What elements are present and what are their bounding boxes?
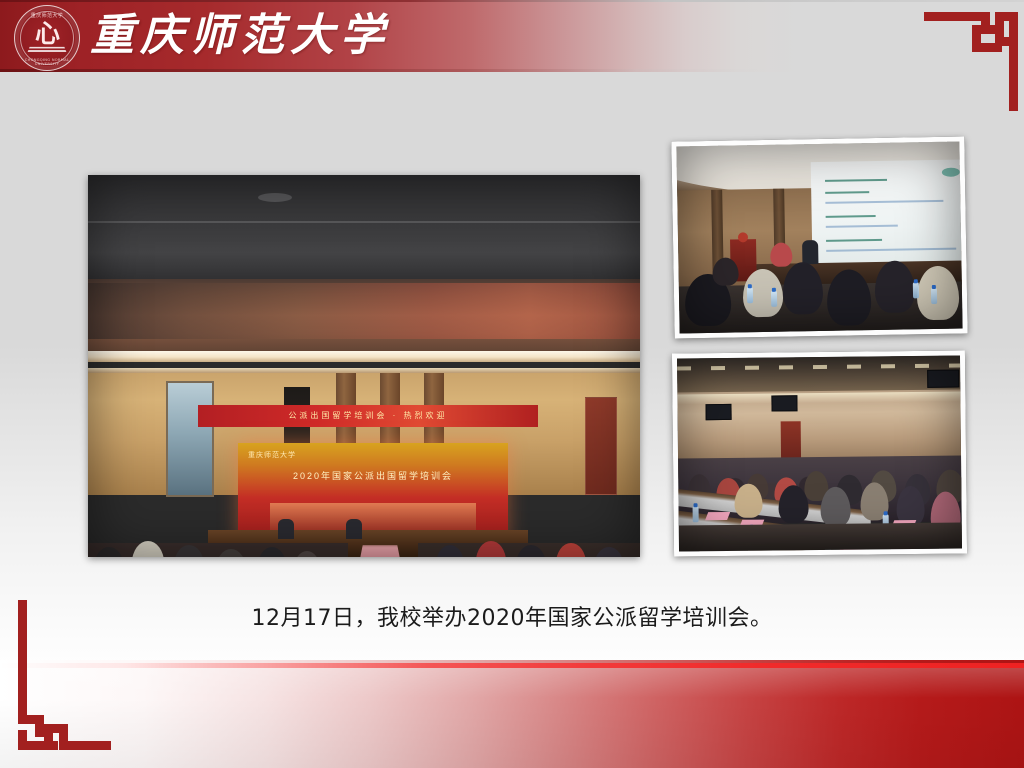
seal-center-glyph: 心 [15,21,79,46]
presenter-projection-screen-photo [671,136,967,338]
seal-bottom-text: CHONGQING NORMAL UNIVERSITY [15,58,79,66]
seal-book-icon [26,47,68,56]
photo-top-right-scene [676,142,962,334]
footer-shade-overlay [0,668,1024,768]
presentation-slide: 重庆师范大学 心 CHONGQING NORMAL UNIVERSITY 重庆师… [0,0,1024,768]
lecture-hall-center-aisle-photo: 公派出国留学培训会 · 热烈欢迎 重庆师范大学 2020年国家公派出国留学培训会 [88,175,640,557]
photo-bottom-right-vignette [677,356,962,552]
slide-caption: 12月17日，我校举办2020年国家公派留学培训会。 [0,600,1024,632]
header-top-accent-line [0,0,1024,2]
photo-bottom-right-scene [677,356,962,552]
footer-top-accent-line [0,663,1024,668]
photo-main-vignette [88,175,640,557]
audience-wide-view-photo [672,350,967,556]
photo-top-right-vignette [676,142,962,334]
university-seal-icon: 重庆师范大学 心 CHONGQING NORMAL UNIVERSITY [14,5,80,71]
university-wordmark: 重庆师范大学 [90,6,390,66]
seal-top-text: 重庆师范大学 [15,12,79,19]
photo-main-scene: 公派出国留学培训会 · 热烈欢迎 重庆师范大学 2020年国家公派出国留学培训会 [88,175,640,557]
